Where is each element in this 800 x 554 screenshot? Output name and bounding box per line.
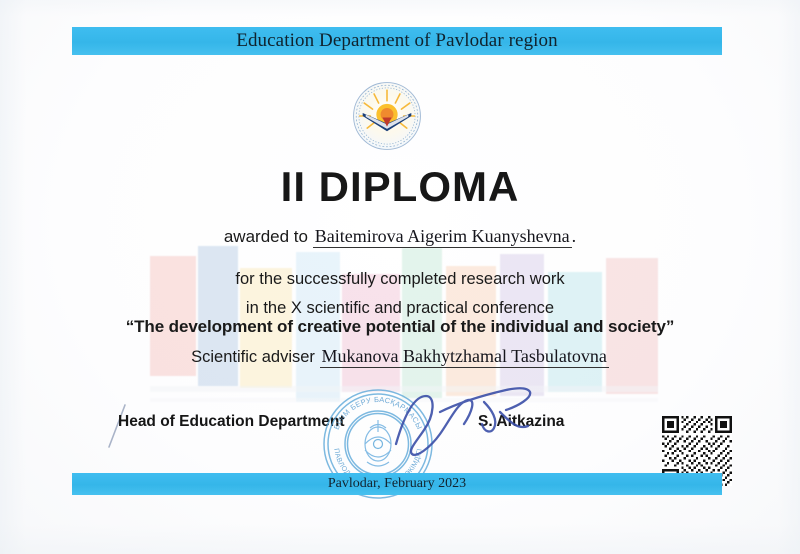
reason-line: for the successfully completed research … [0,270,800,289]
recipient-name-value: Baitemirova Aigerim Kuanyshevna [313,226,572,248]
page-title: II DIPLOMA [0,163,800,211]
adviser-name-value: Mukanova Bakhytzhamal Tasbulatovna [320,346,609,368]
adviser-prefix-label: Scientific adviser [191,348,315,366]
sun-book-emblem-icon [349,78,425,154]
recipient-name-period: . [572,226,577,246]
signatory-role-label: Head of Education Department [118,413,345,431]
certificate-page: Education Department of Pavlodar region [0,0,800,554]
event-line: in the X scientific and practical confer… [0,299,800,318]
awarded-prefix-label: awarded to [224,227,308,246]
adviser-line: Scientific adviser Mukanova Bakhytzhamal… [0,346,800,367]
signatory-name-label: S. Aitkazina [478,413,564,431]
header-bar-title: Education Department of Pavlodar region [72,27,722,55]
awarded-line: awarded to Baitemirova Aigerim Kuanyshev… [0,226,800,247]
footer-bar-text: Pavlodar, February 2023 [72,473,722,495]
theme-line: “The development of creative potential o… [0,317,800,337]
